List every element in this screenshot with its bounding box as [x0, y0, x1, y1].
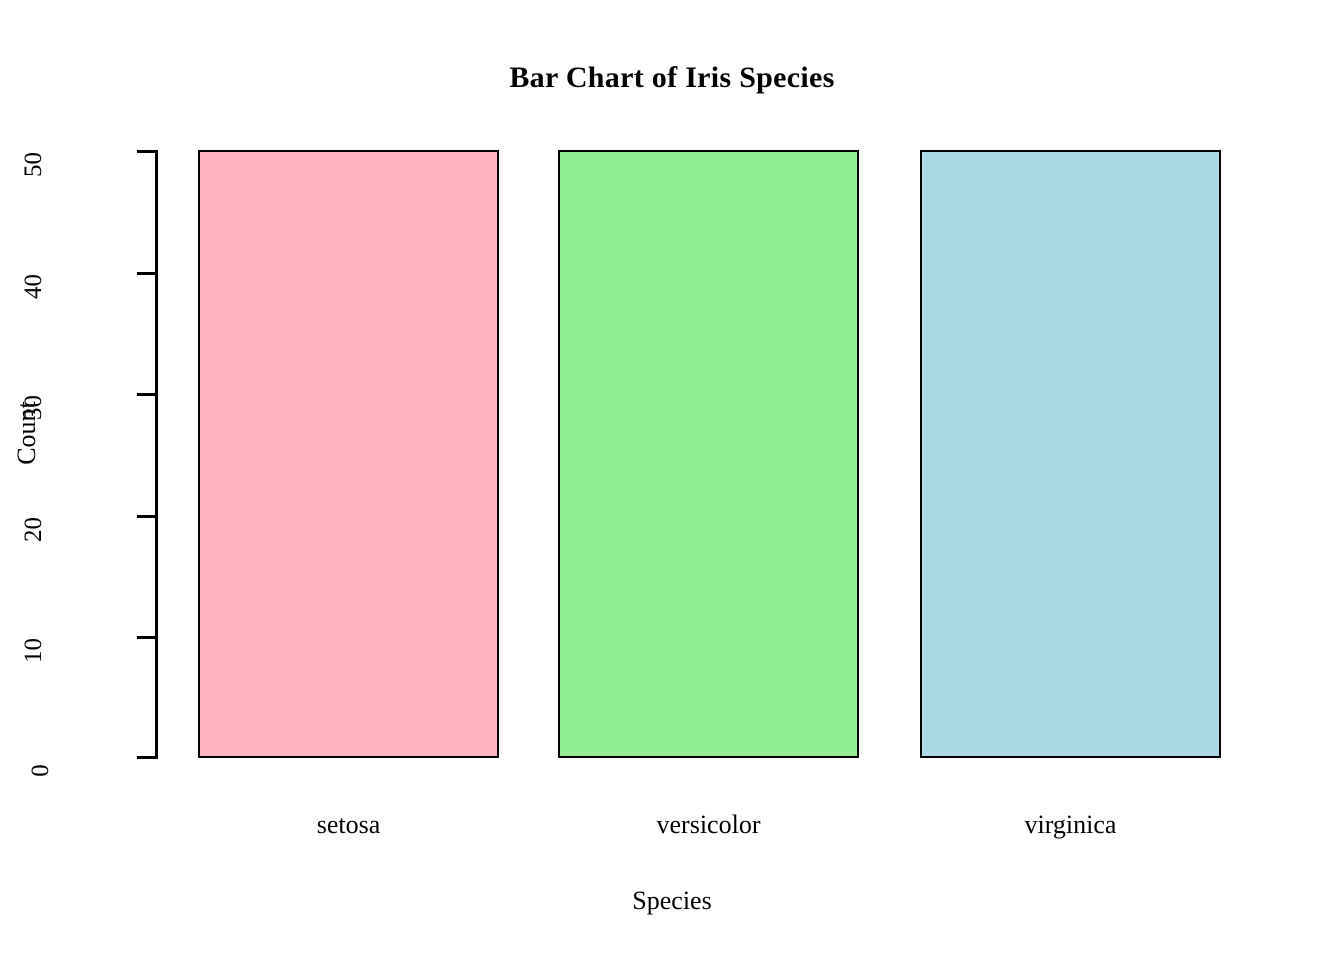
y-tick-0	[137, 756, 156, 759]
y-tick-label-10: 10	[0, 638, 46, 663]
y-tick-label-0-text: 0	[27, 764, 52, 777]
plot-canvas: Bar Chart of Iris Species 50 40 30 20 10…	[0, 0, 1344, 960]
y-tick-30	[137, 393, 156, 396]
x-category-label-versicolor: versicolor	[558, 810, 859, 840]
bar-setosa	[198, 150, 499, 758]
page-title: Bar Chart of Iris Species	[0, 60, 1344, 96]
y-tick-label-50-text: 50	[21, 152, 46, 177]
bar-virginica	[920, 150, 1221, 758]
y-tick-label-50: 50	[0, 152, 46, 177]
y-tick-label-20-text: 20	[21, 517, 46, 542]
y-tick-label-20: 20	[0, 517, 46, 542]
bar-versicolor	[558, 150, 859, 758]
y-axis-title: Count	[14, 388, 40, 478]
y-tick-20	[137, 515, 156, 518]
x-axis-title: Species	[0, 885, 1344, 917]
y-tick-50	[137, 150, 156, 153]
y-tick-label-40: 40	[0, 274, 46, 299]
x-category-label-virginica: virginica	[920, 810, 1221, 840]
y-tick-label-10-text: 10	[21, 638, 46, 663]
plot-region	[157, 150, 1247, 758]
y-tick-40	[137, 272, 156, 275]
x-category-label-setosa: setosa	[198, 810, 499, 840]
y-tick-label-0: 0	[0, 758, 46, 783]
y-tick-10	[137, 636, 156, 639]
y-tick-label-40-text: 40	[21, 274, 46, 299]
